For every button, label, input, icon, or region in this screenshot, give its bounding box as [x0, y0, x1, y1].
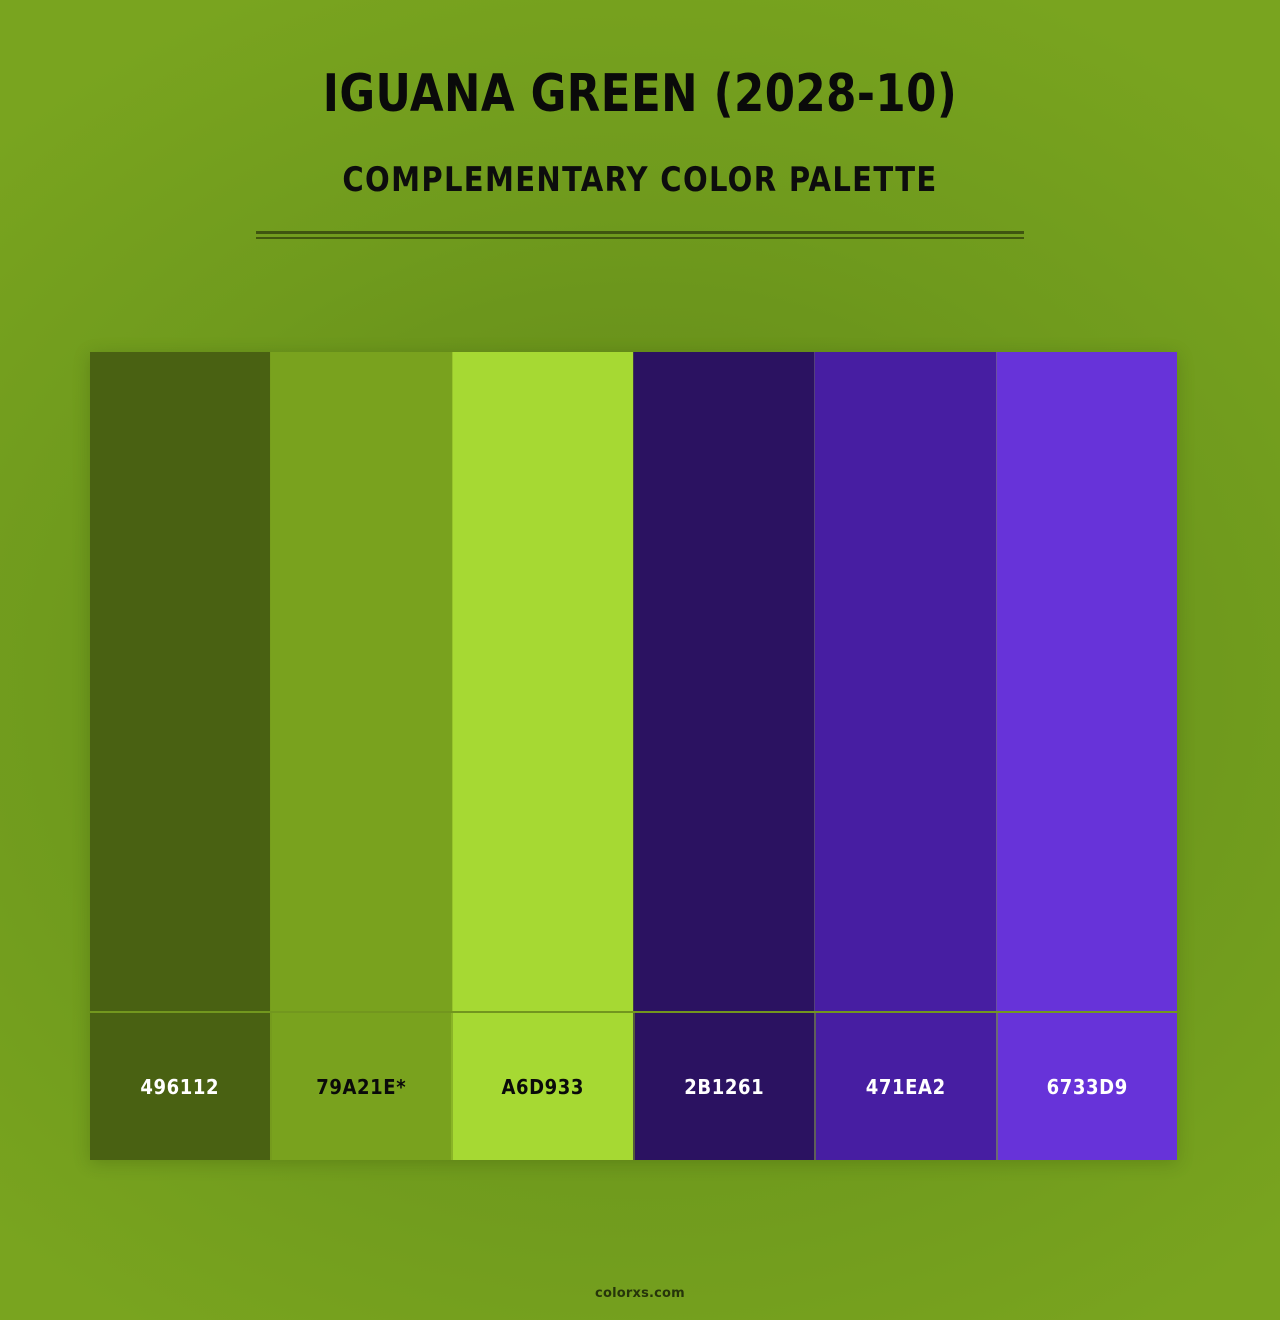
color-swatch-label-cell[interactable]: 6733D9 — [996, 1013, 1178, 1160]
color-swatch[interactable] — [633, 352, 814, 1011]
color-swatch-label-cell[interactable]: 2B1261 — [633, 1013, 815, 1160]
footer: colorxs.com — [0, 1286, 1280, 1301]
label-row: 49611279A21E*A6D9332B1261471EA26733D9 — [90, 1011, 1177, 1160]
color-swatch[interactable] — [452, 352, 633, 1011]
color-palette: 49611279A21E*A6D9332B1261471EA26733D9 — [90, 352, 1177, 1160]
color-swatch-label-cell[interactable]: 496112 — [90, 1013, 270, 1160]
header-divider — [256, 231, 1024, 241]
color-hex-label: 79A21E* — [316, 1075, 406, 1099]
color-swatch-label-cell[interactable]: A6D933 — [451, 1013, 633, 1160]
divider-rule-thin — [256, 237, 1024, 239]
color-swatch[interactable] — [996, 352, 1177, 1011]
color-swatch-label-cell[interactable]: 471EA2 — [814, 1013, 996, 1160]
color-hex-label: 6733D9 — [1047, 1075, 1128, 1099]
color-swatch-label-cell[interactable]: 79A21E* — [270, 1013, 452, 1160]
color-hex-label: 2B1261 — [684, 1075, 764, 1099]
footer-site-label: colorxs.com — [595, 1286, 685, 1301]
swatch-row — [90, 352, 1177, 1011]
page-title: IGUANA GREEN (2028-10) — [45, 68, 1235, 120]
color-swatch[interactable] — [270, 352, 451, 1011]
color-hex-label: 496112 — [140, 1075, 219, 1099]
color-swatch[interactable] — [814, 352, 995, 1011]
divider-rule-thick — [256, 231, 1024, 234]
color-hex-label: A6D933 — [501, 1075, 584, 1099]
color-hex-label: 471EA2 — [866, 1075, 946, 1099]
page-subtitle: COMPLEMENTARY COLOR PALETTE — [32, 163, 1248, 197]
color-swatch[interactable] — [90, 352, 270, 1011]
